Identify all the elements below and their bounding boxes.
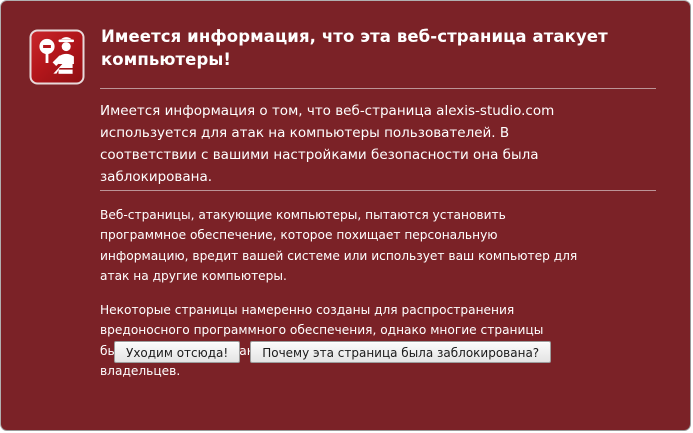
- detail-paragraph-1: Веб-страницы, атакующие компьютеры, пыта…: [100, 205, 580, 286]
- attack-site-icon: [28, 28, 86, 86]
- divider-top: [100, 88, 656, 89]
- divider-middle: [100, 190, 656, 191]
- lead-paragraph: Имеется информация о том, что веб-страни…: [100, 101, 605, 188]
- page-title: Имеется информация, что эта веб-страница…: [101, 25, 641, 72]
- title-block: Имеется информация, что эта веб-страница…: [101, 25, 662, 72]
- leave-site-button[interactable]: Уходим отсюда!: [114, 341, 240, 363]
- malware-warning-page: Имеется информация, что эта веб-страница…: [0, 0, 691, 431]
- button-row: Уходим отсюда! Почему эта страница была …: [114, 341, 551, 363]
- warning-header: Имеется информация, что эта веб-страница…: [1, 1, 691, 86]
- lead-section: Имеется информация о том, что веб-страни…: [100, 101, 660, 194]
- why-blocked-button[interactable]: Почему эта страница была заблокирована?: [250, 341, 551, 363]
